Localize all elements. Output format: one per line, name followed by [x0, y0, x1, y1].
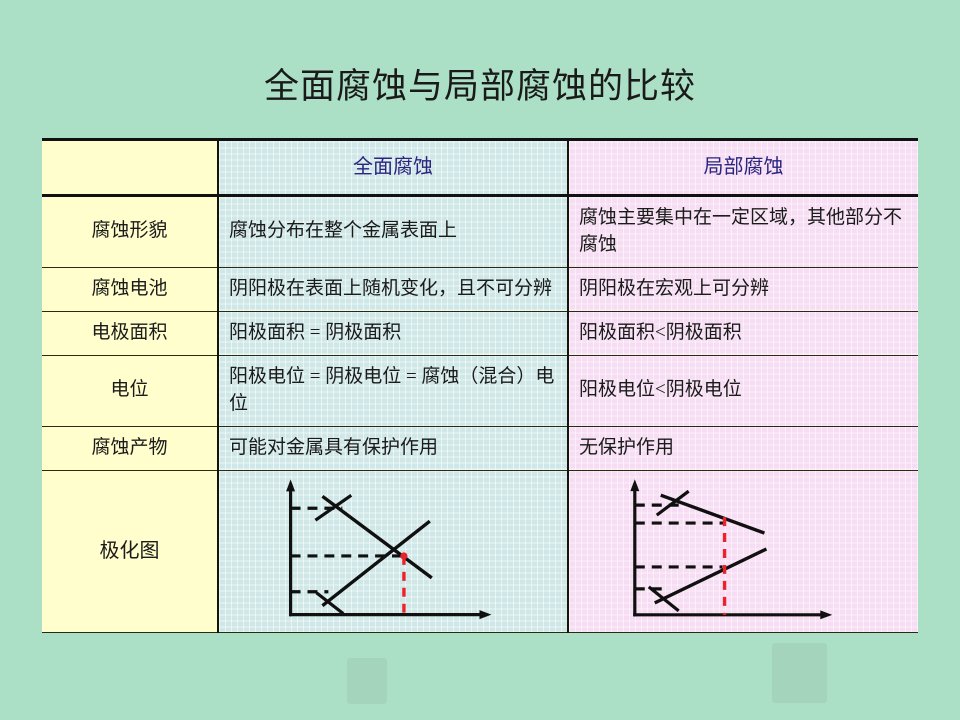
cell-uniform-corrosion-product: 可能对金属具有保护作用 — [218, 426, 568, 470]
comparison-table: 全面腐蚀 局部腐蚀 腐蚀形貌 腐蚀分布在整个金属表面上 腐蚀主要集中在一定区域，… — [42, 138, 918, 633]
cell-local-electrode-area: 阳极面积<阴极面积 — [568, 311, 918, 355]
row-label-corrosion-cell: 腐蚀电池 — [42, 267, 218, 311]
x-axis-arrowhead — [480, 610, 492, 619]
chart-axes — [635, 485, 824, 615]
cell-uniform-potential: 阳极电位 = 阴极电位 = 腐蚀（混合）电位 — [218, 355, 568, 426]
row-label-electrode-area: 电极面积 — [42, 311, 218, 355]
table-row: 电位 阳极电位 = 阴极电位 = 腐蚀（混合）电位 阳极电位<阴极电位 — [42, 355, 918, 426]
row-label-morphology: 腐蚀形貌 — [42, 196, 218, 268]
background-artifact — [772, 643, 827, 703]
table-row: 腐蚀产物 可能对金属具有保护作用 无保护作用 — [42, 426, 918, 470]
header-cell-local-corrosion: 局部腐蚀 — [568, 140, 918, 196]
x-axis-arrowhead — [820, 611, 832, 620]
cell-uniform-electrode-area: 阳极面积 = 阴极面积 — [218, 311, 568, 355]
cell-local-corrosion-cell: 阴阳极在宏观上可分辨 — [568, 267, 918, 311]
local-polarization-chart — [569, 471, 918, 631]
cell-local-potential: 阳极电位<阴极电位 — [568, 355, 918, 426]
comparison-table-container: 全面腐蚀 局部腐蚀 腐蚀形貌 腐蚀分布在整个金属表面上 腐蚀主要集中在一定区域，… — [42, 138, 918, 720]
dashed-level-lines — [291, 509, 404, 593]
table-row: 电极面积 阳极面积 = 阴极面积 阳极面积<阴极面积 — [42, 311, 918, 355]
table-row: 腐蚀形貌 腐蚀分布在整个金属表面上 腐蚀主要集中在一定区域，其他部分不腐蚀 — [42, 196, 918, 268]
header-cell-blank — [42, 140, 218, 196]
cell-local-polarization-chart — [568, 470, 918, 632]
row-label-polarization-diagram: 极化图 — [42, 470, 218, 632]
cell-local-corrosion-product: 无保护作用 — [568, 426, 918, 470]
cell-uniform-morphology: 腐蚀分布在整个金属表面上 — [218, 196, 568, 268]
header-cell-uniform-corrosion: 全面腐蚀 — [218, 140, 568, 196]
row-label-potential: 电位 — [42, 355, 218, 426]
table-row-polarization: 极化图 — [42, 470, 918, 632]
slide: 全面腐蚀与局部腐蚀的比较 全面腐蚀 局部腐蚀 腐蚀形貌 腐蚀分布在整个金属表面上… — [0, 0, 960, 720]
uniform-polarization-chart — [219, 471, 567, 631]
cell-uniform-corrosion-cell: 阴阳极在表面上随机变化，且不可分辨 — [218, 267, 568, 311]
background-artifact — [347, 658, 387, 704]
cell-local-morphology: 腐蚀主要集中在一定区域，其他部分不腐蚀 — [568, 196, 918, 268]
y-axis-arrowhead — [286, 480, 295, 492]
row-label-corrosion-product: 腐蚀产物 — [42, 426, 218, 470]
cathodic-polarization-curve — [322, 497, 431, 579]
equilibrium-cross-marks — [649, 491, 689, 611]
table-header-row: 全面腐蚀 局部腐蚀 — [42, 140, 918, 196]
page-title: 全面腐蚀与局部腐蚀的比较 — [0, 58, 960, 109]
table-row: 腐蚀电池 阴阳极在表面上随机变化，且不可分辨 阴阳极在宏观上可分辨 — [42, 267, 918, 311]
y-axis-arrowhead — [630, 479, 639, 491]
anodic-polarization-curve — [655, 549, 767, 603]
cell-uniform-polarization-chart — [218, 470, 568, 632]
